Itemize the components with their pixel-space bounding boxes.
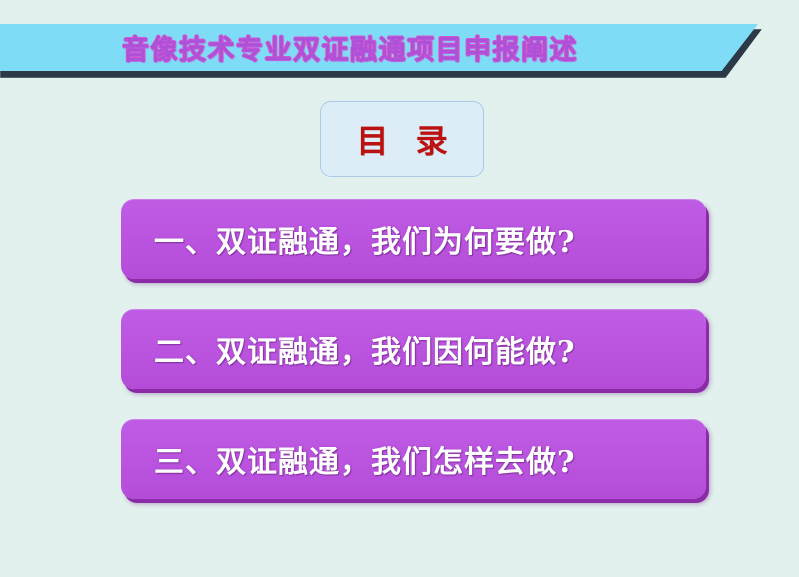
toc-item-label: 三、双证融通，我们怎样去做? xyxy=(121,437,576,481)
toc-item-1[interactable]: 一、双证融通，我们为何要做? xyxy=(121,199,706,279)
toc-item-label: 二、双证融通，我们因何能做? xyxy=(121,327,576,371)
toc-item-label: 一、双证融通，我们为何要做? xyxy=(121,217,576,261)
toc-item-3[interactable]: 三、双证融通，我们怎样去做? xyxy=(121,419,706,499)
toc-item-list: 一、双证融通，我们为何要做? 二、双证融通，我们因何能做? 三、双证融通，我们怎… xyxy=(0,0,799,577)
toc-item-2[interactable]: 二、双证融通，我们因何能做? xyxy=(121,309,706,389)
presentation-slide: 音像技术专业双证融通项目申报阐述 目 录 一、双证融通，我们为何要做? 二、双证… xyxy=(0,0,799,577)
